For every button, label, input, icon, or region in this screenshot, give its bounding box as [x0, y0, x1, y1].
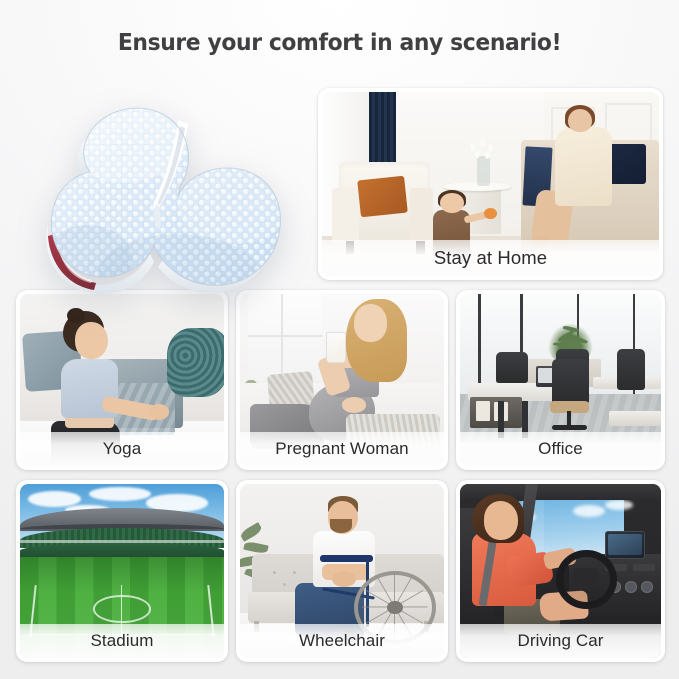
air-vent-right: [633, 564, 655, 571]
card-inner: Driving Car: [460, 484, 661, 658]
cloud-through-window: [605, 500, 633, 510]
scenario-label-stay-at-home: Stay at Home: [322, 240, 659, 276]
woman-head: [484, 501, 518, 539]
task-chair-back-far: [496, 352, 528, 383]
woman-hand: [149, 404, 169, 419]
plant-leaf: [553, 342, 568, 347]
climate-knob-3[interactable]: [641, 581, 653, 592]
armchair-arm-left: [332, 188, 359, 243]
scenario-card-stadium[interactable]: Stadium: [16, 480, 228, 662]
woman-head: [354, 304, 387, 342]
center-circle: [93, 595, 150, 623]
desk-foreground-right: [609, 411, 661, 426]
scenario-card-driving-car[interactable]: Driving Car: [456, 480, 665, 662]
scenario-card-stay-at-home[interactable]: Stay at Home: [318, 88, 663, 280]
man-hands: [332, 571, 356, 587]
infotainment-screen[interactable]: [608, 534, 642, 555]
woman-hand-on-belly: [342, 397, 366, 412]
product-image-seat-cushion: [28, 84, 298, 339]
steering-wheel-hub: [573, 568, 599, 589]
page-title: Ensure your comfort in any scenario!: [24, 28, 655, 56]
cushion-svg: [28, 84, 298, 339]
scenario-label-pregnant-woman: Pregnant Woman: [240, 432, 444, 466]
card-inner: Office: [460, 294, 661, 466]
cushion-top-surface: [28, 84, 298, 339]
scenario-card-wheelchair[interactable]: Wheelchair: [236, 480, 448, 662]
wheelchair-armrest: [320, 555, 373, 562]
plant-leaf: [569, 333, 588, 344]
scenario-label-wheelchair: Wheelchair: [240, 624, 444, 658]
scenario-label-driving-car: Driving Car: [460, 624, 661, 658]
cloud: [28, 491, 81, 507]
cloud-through-window: [573, 505, 605, 517]
orange-pillow: [357, 176, 408, 218]
white-tulips: [467, 138, 501, 164]
woman-head: [568, 109, 592, 133]
credenza-shelf-1: [476, 401, 490, 422]
task-chair-back-right: [617, 349, 645, 390]
armchair-arm-right: [410, 188, 434, 243]
scenario-label-yoga: Yoga: [20, 432, 224, 466]
woman-dress: [555, 127, 612, 206]
card-inner: Wheelchair: [240, 484, 444, 658]
scenario-card-office[interactable]: Office: [456, 290, 665, 470]
scenario-label-office: Office: [460, 432, 661, 466]
card-inner: Stay at Home: [322, 92, 659, 276]
man-beard: [330, 519, 352, 533]
plant-frond: [240, 522, 263, 541]
scenario-label-stadium: Stadium: [20, 624, 224, 658]
task-chair-back-main: [552, 359, 588, 404]
climate-knob-2[interactable]: [625, 581, 637, 592]
glass-of-milk: [326, 332, 346, 363]
task-chair-base: [552, 425, 586, 430]
plant-frond: [243, 541, 268, 554]
window-mullion-1: [478, 294, 481, 394]
child-head: [440, 193, 464, 213]
orange-toy-ball: [484, 208, 497, 219]
card-inner: Stadium: [20, 484, 224, 658]
sofa-tuft: [273, 571, 276, 574]
